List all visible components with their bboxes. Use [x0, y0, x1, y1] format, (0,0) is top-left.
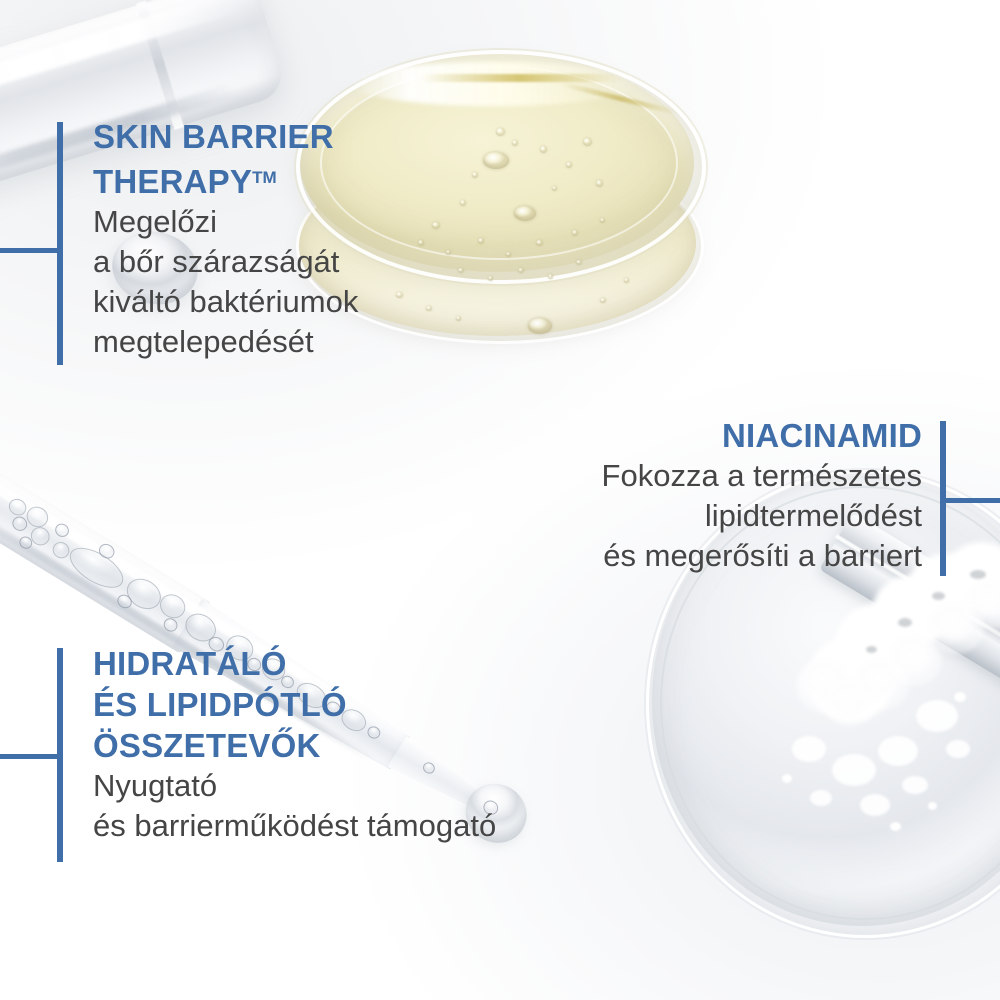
callout-body-line: megtelepedését [93, 322, 513, 362]
callout-heading-line-2: ÉS LIPIDPÓTLÓ [93, 686, 347, 723]
callout-heading-continued: ÉS LIPIDPÓTLÓ [93, 684, 613, 725]
callout-heading-line-3: ÖSSZETEVŐK [93, 727, 321, 764]
callout-hidratalo-es-lipidpotlo: HIDRATÁLÓ ÉS LIPIDPÓTLÓ ÖSSZETEVŐK Nyugt… [93, 643, 613, 846]
trademark-symbol: TM [252, 168, 277, 187]
dropper-stem [0, 430, 211, 654]
callout-heading: NIACINAMID [470, 415, 922, 456]
petri-dish-glint [420, 74, 620, 82]
callout-rule-vertical-3 [57, 648, 63, 862]
infographic-canvas: SKIN BARRIER THERAPYTM Megelőzi a bőr sz… [0, 0, 1000, 1000]
callout-heading-continued: THERAPYTM [93, 157, 513, 202]
callout-heading-continued-2: ÖSSZETEVŐK [93, 725, 613, 766]
callout-body-line: és megerősíti a barriert [470, 536, 922, 576]
callout-skin-barrier-therapy: SKIN BARRIER THERAPYTM Megelőzi a bőr sz… [93, 116, 513, 362]
petri-dish-glint-secondary [561, 82, 679, 116]
tube-highlight [0, 0, 239, 120]
callout-body-line: Fokozza a természetes [470, 456, 922, 496]
callout-body-line: Megelőzi [93, 202, 513, 242]
callout-body-line: a bőr szárazságát [93, 242, 513, 282]
callout-rule-tick-3 [0, 754, 57, 759]
callout-heading-line-2: THERAPY [93, 163, 252, 200]
callout-heading-line-1: HIDRATÁLÓ [93, 645, 287, 682]
callout-body-line: és barrierműködést támogató [93, 806, 613, 846]
callout-rule-vertical-1 [57, 122, 63, 365]
callout-heading-line-1: NIACINAMID [722, 417, 922, 454]
callout-heading-line-1: SKIN BARRIER [93, 118, 334, 155]
white-powder [740, 540, 1000, 870]
callout-rule-tick-2 [946, 498, 1000, 503]
callout-heading: SKIN BARRIER [93, 116, 513, 157]
tube-ring [136, 1, 184, 130]
callout-niacinamid: NIACINAMID Fokozza a természetes lipidte… [470, 415, 922, 576]
callout-body-line: Nyugtató [93, 766, 613, 806]
petri-dish-gloss [350, 62, 640, 106]
callout-heading: HIDRATÁLÓ [93, 643, 613, 684]
callout-body-line: lipidtermelődést [470, 496, 922, 536]
callout-body-line: kiváltó baktériumok [93, 282, 513, 322]
callout-rule-tick-1 [0, 248, 57, 253]
